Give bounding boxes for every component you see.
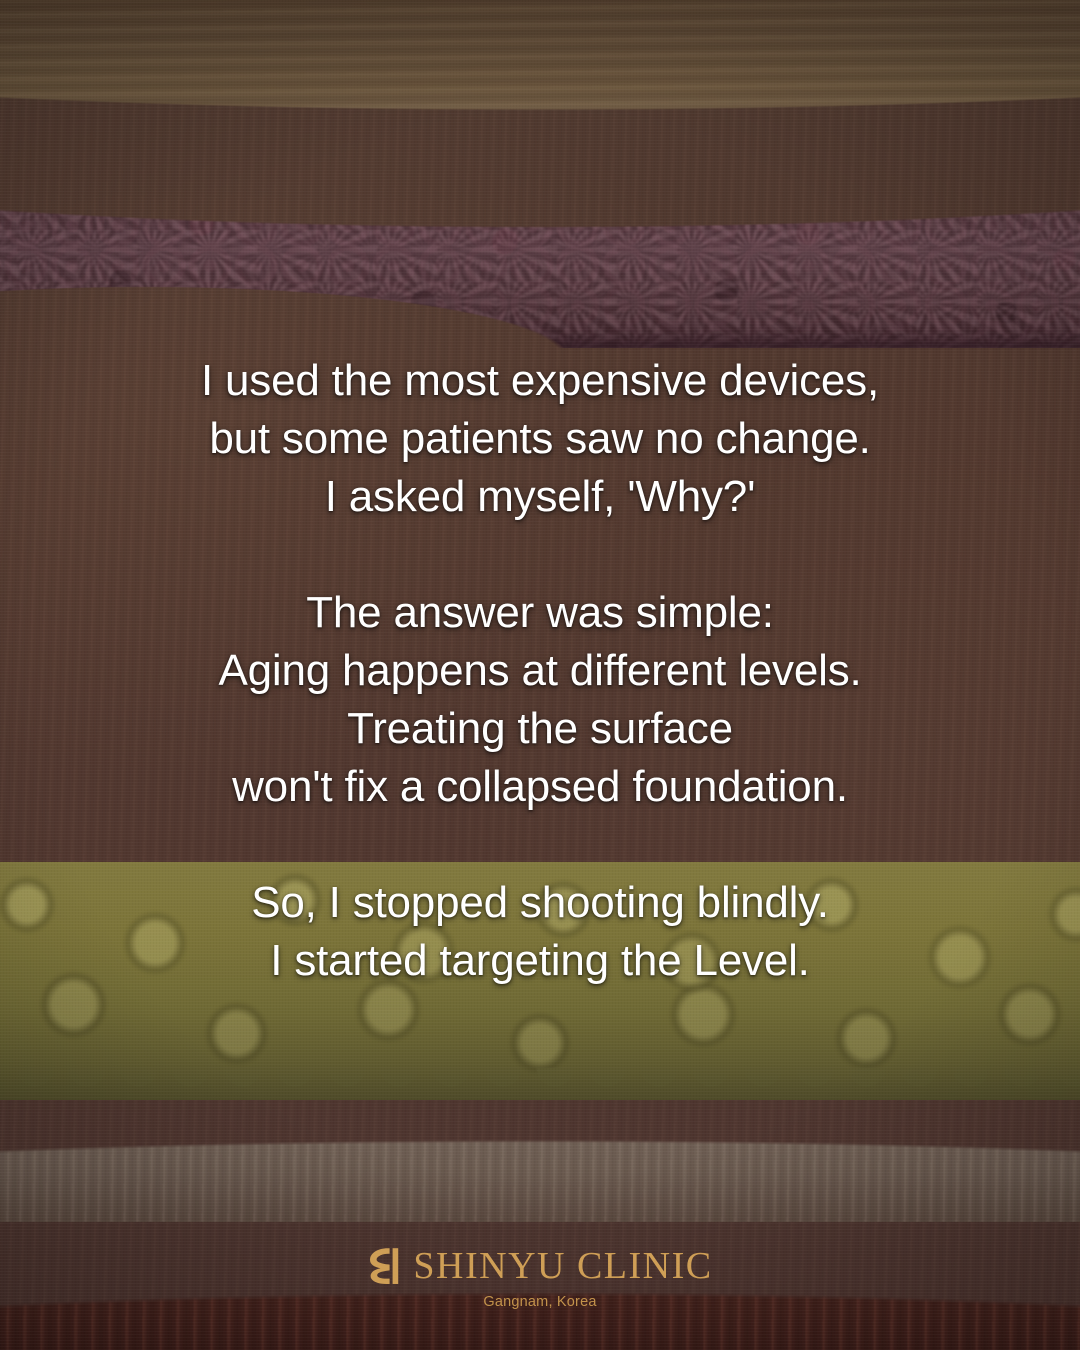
social-post-canvas: I used the most expensive devices, but s… [0, 0, 1080, 1350]
epidermis-highlight [0, 128, 1080, 194]
copy-line: won't fix a collapsed foundation. [60, 758, 1020, 816]
logo-row: SHINYU CLINIC [0, 1247, 1080, 1285]
copy-line: but some patients saw no change. [60, 410, 1020, 468]
copy-line: Treating the surface [60, 700, 1020, 758]
basal-bottom-edge [0, 330, 1080, 348]
copy-line: I asked myself, 'Why?' [60, 468, 1020, 526]
copy-line: I used the most expensive devices, [60, 352, 1020, 410]
logo-wordmark: SHINYU CLINIC [413, 1247, 712, 1285]
paragraph-1: I used the most expensive devices, but s… [60, 352, 1020, 526]
brand-logo: SHINYU CLINIC Gangnam, Korea [0, 1247, 1080, 1310]
overlay-copy: I used the most expensive devices, but s… [0, 352, 1080, 990]
shinyu-monogram-icon [367, 1247, 401, 1285]
copy-line: Aging happens at different levels. [60, 642, 1020, 700]
copy-line: I started targeting the Level. [60, 932, 1020, 990]
epidermis-layer [0, 0, 1080, 198]
logo-tagline: Gangnam, Korea [0, 1294, 1080, 1310]
copy-line: The answer was simple: [60, 584, 1020, 642]
paragraph-2: The answer was simple: Aging happens at … [60, 584, 1020, 816]
paragraph-3: So, I stopped shooting blindly. I starte… [60, 874, 1020, 990]
copy-line: So, I stopped shooting blindly. [60, 874, 1020, 932]
